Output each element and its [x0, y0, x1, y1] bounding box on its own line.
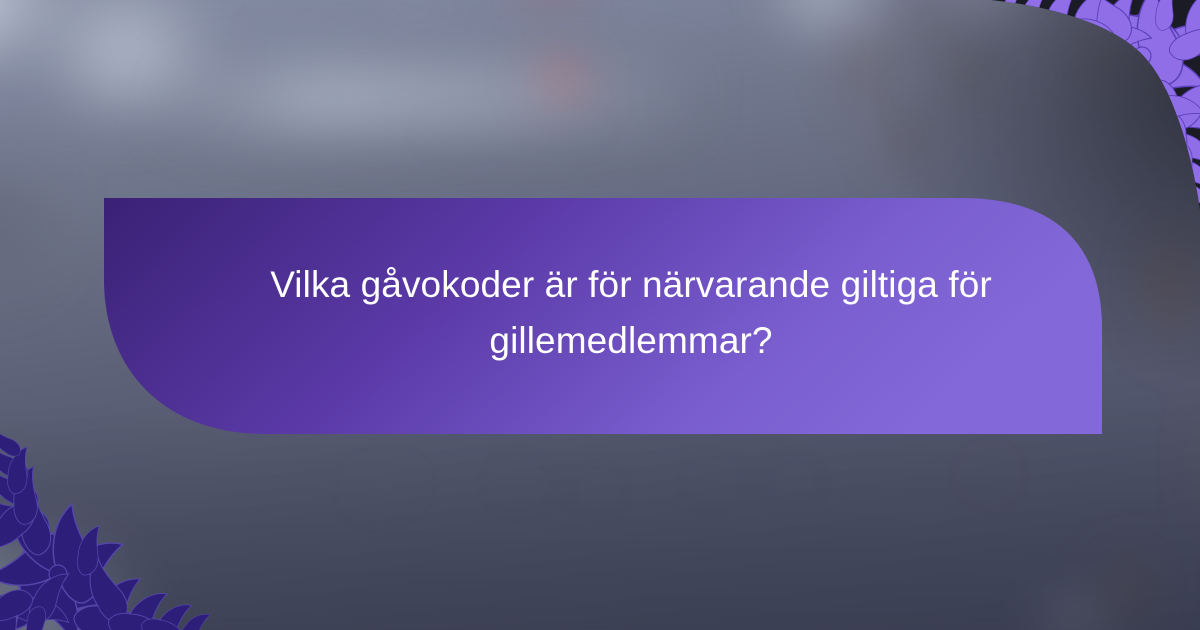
- share-card: Vilka gåvokoder är för närvarande giltig…: [0, 0, 1200, 630]
- banner-question-text: Vilka gåvokoder är för närvarande giltig…: [220, 196, 1042, 436]
- question-banner: Vilka gåvokoder är för närvarande giltig…: [100, 196, 1102, 436]
